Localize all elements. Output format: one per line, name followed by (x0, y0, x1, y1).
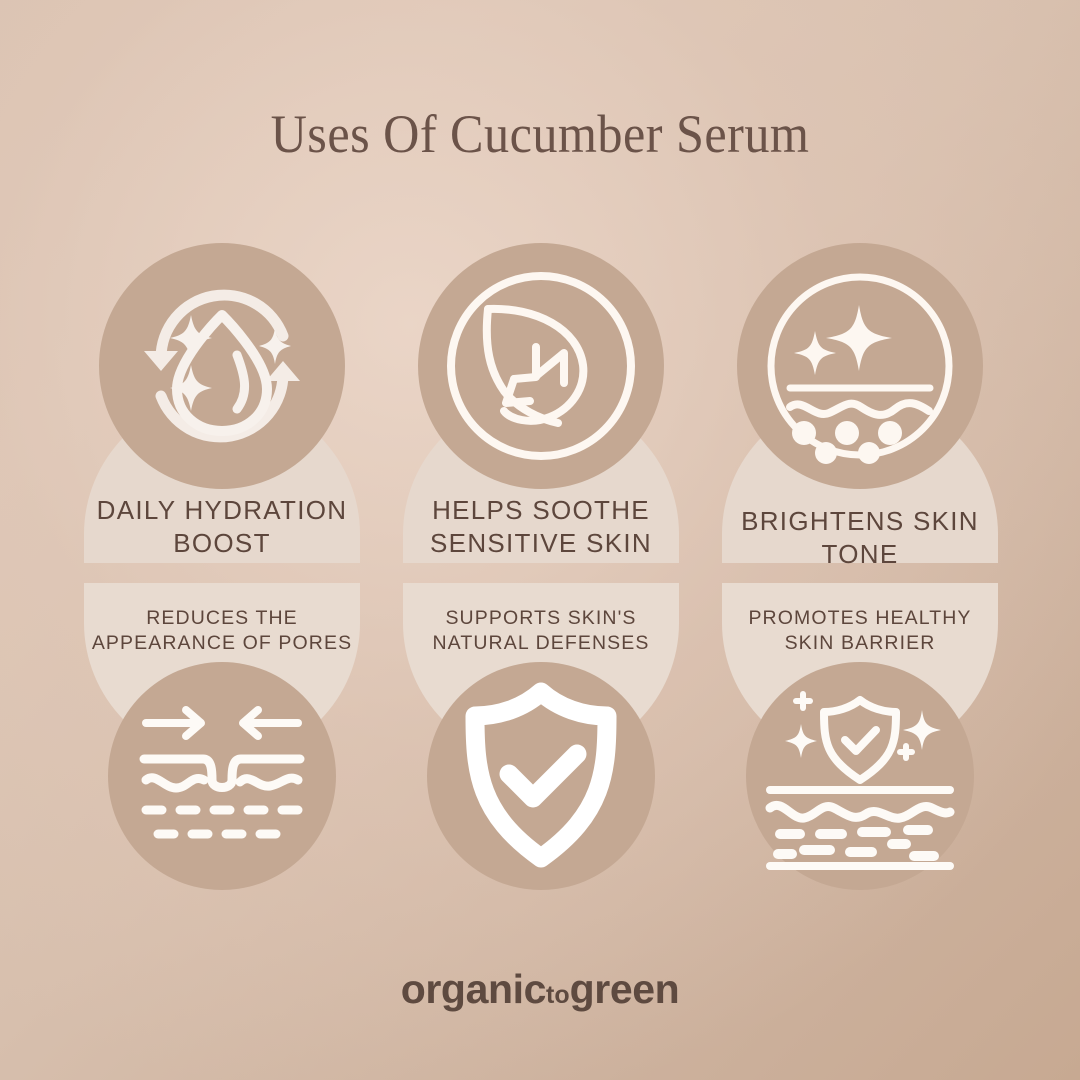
icon-circle-natural-defenses (427, 662, 655, 890)
benefit-label-daily-hydration: DAILY HYDRATION BOOST (78, 494, 366, 561)
benefit-column-3: BRIGHTENS SKIN TONE PROMOTES HEALTHY SKI… (722, 0, 998, 1080)
brand-name-part1: organic (401, 966, 546, 1012)
pore-tightening-icon (108, 662, 336, 890)
benefit-label-line2: APPEARANCE OF PORES (78, 631, 366, 656)
glowing-skin-circle-icon (737, 243, 983, 489)
benefit-label-line2: NATURAL DEFENSES (397, 631, 685, 656)
benefit-label-line1: DAILY HYDRATION (78, 494, 366, 527)
brand-name-connector: to (546, 981, 570, 1009)
water-drop-refresh-icon (99, 243, 345, 489)
icon-circle-brightens-skin (737, 243, 983, 489)
benefit-label-line2: SKIN BARRIER (716, 631, 1004, 656)
benefit-label-line2: SENSITIVE SKIN (397, 527, 685, 560)
skin-barrier-shield-icon (746, 662, 974, 890)
benefit-label-line1: REDUCES THE (78, 606, 366, 631)
benefit-label-brightens-skin: BRIGHTENS SKIN TONE (716, 505, 1004, 572)
benefit-label-line2: TONE (716, 538, 1004, 571)
benefit-label-skin-barrier: PROMOTES HEALTHY SKIN BARRIER (716, 606, 1004, 656)
brand-logo: organictogreen (0, 966, 1080, 1013)
benefit-column-1: DAILY HYDRATION BOOST REDUCES THE APPEAR… (84, 0, 360, 1080)
icon-circle-helps-soothe (418, 243, 664, 489)
benefit-column-2: HELPS SOOTHE SENSITIVE SKIN SUPPORTS SKI… (403, 0, 679, 1080)
benefit-label-natural-defenses: SUPPORTS SKIN'S NATURAL DEFENSES (397, 606, 685, 656)
infographic-canvas: Uses Of Cucumber Serum DAILY HYDRATION B… (0, 0, 1080, 1080)
icon-circle-daily-hydration (99, 243, 345, 489)
benefit-label-line1: BRIGHTENS SKIN (716, 505, 1004, 538)
benefit-label-reduces-pores: REDUCES THE APPEARANCE OF PORES (78, 606, 366, 656)
brand-name-part2: green (570, 966, 680, 1012)
benefit-label-line1: PROMOTES HEALTHY (716, 606, 1004, 631)
benefit-label-line2: BOOST (78, 527, 366, 560)
feather-circle-icon (418, 243, 664, 489)
icon-circle-reduces-pores (108, 662, 336, 890)
shield-check-icon (427, 662, 655, 890)
benefit-label-line1: SUPPORTS SKIN'S (397, 606, 685, 631)
icon-circle-skin-barrier (746, 662, 974, 890)
benefit-label-helps-soothe: HELPS SOOTHE SENSITIVE SKIN (397, 494, 685, 561)
benefit-label-line1: HELPS SOOTHE (397, 494, 685, 527)
